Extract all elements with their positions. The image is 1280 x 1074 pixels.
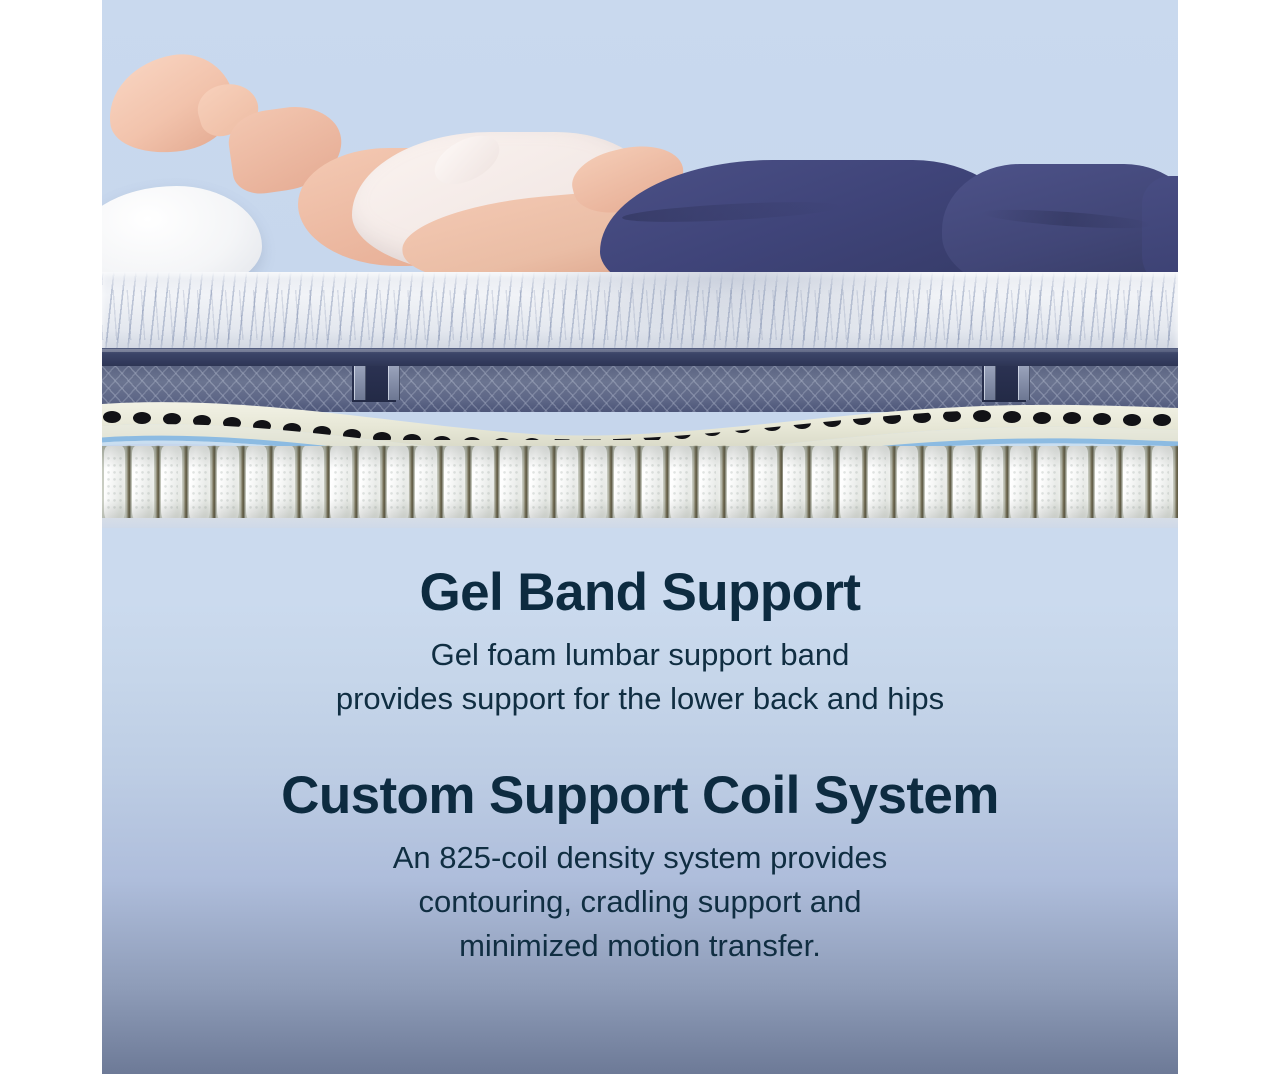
marketing-image: Gel Band Support Gel foam lumbar support… — [0, 0, 1280, 1074]
product-photo — [102, 0, 1178, 528]
mattress-edge-highlight — [102, 349, 1178, 352]
section-one-heading: Gel Band Support — [102, 566, 1178, 619]
feature-copy: Gel Band Support Gel foam lumbar support… — [102, 528, 1178, 968]
mattress-handle-post-2 — [388, 366, 400, 400]
section-two-body-line: minimized motion transfer. — [102, 924, 1178, 968]
mattress-base-strip — [102, 518, 1178, 528]
content-panel: Gel Band Support Gel foam lumbar support… — [102, 0, 1178, 1074]
section-two-body-line: contouring, cradling support and — [102, 880, 1178, 924]
coil-shading-overlay — [102, 446, 1178, 522]
mattress-handle-post-1 — [354, 366, 366, 400]
section-one-body: Gel foam lumbar support band provides su… — [102, 633, 1178, 721]
section-one-body-line: provides support for the lower back and … — [102, 677, 1178, 721]
pocketed-coil-layer — [102, 446, 1178, 522]
section-one-body-line: Gel foam lumbar support band — [102, 633, 1178, 677]
mattress-handle-post-3 — [984, 366, 996, 400]
mattress-surface-compression — [522, 272, 942, 354]
section-two-heading: Custom Support Coil System — [102, 769, 1178, 822]
mattress-handle-post-4 — [1018, 366, 1030, 400]
section-two-body: An 825-coil density system provides cont… — [102, 836, 1178, 968]
section-two-body-line: An 825-coil density system provides — [102, 836, 1178, 880]
